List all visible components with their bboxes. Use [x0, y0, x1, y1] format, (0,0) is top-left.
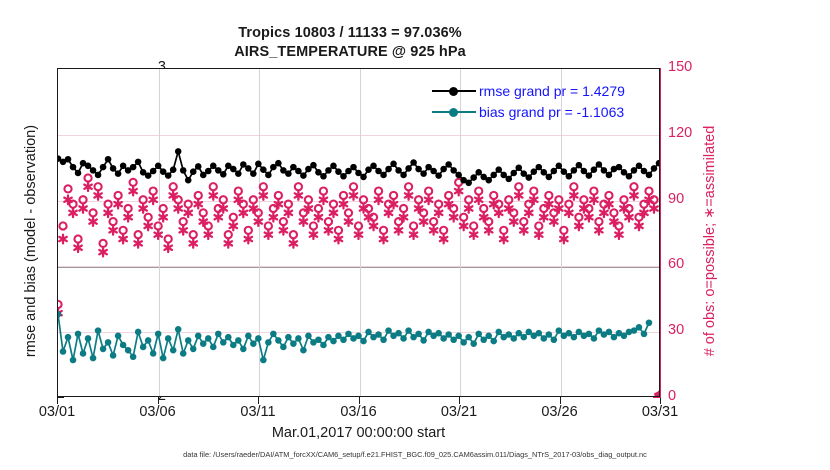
legend-marker-icon: [432, 84, 476, 98]
x-axis-tick-mark: [258, 397, 259, 404]
y-axis-right-tick-label: 0: [668, 388, 714, 404]
x-axis-tick-label: 03/31: [625, 404, 695, 420]
y-axis-right-tick-label: 30: [668, 322, 714, 338]
x-axis-tick-mark: [660, 397, 661, 404]
y-axis-left-label: rmse and bias (model - observation): [23, 76, 39, 406]
chart-title: Tropics 10803 / 11133 = 97.036% AIRS_TEM…: [0, 24, 700, 62]
x-axis-tick-mark: [57, 397, 58, 404]
x-axis-tick-label: 03/06: [123, 404, 193, 420]
plot-page: Tropics 10803 / 11133 = 97.036% AIRS_TEM…: [0, 0, 830, 470]
x-axis-tick-label: 03/26: [525, 404, 595, 420]
legend: rmse grand pr = 1.4279bias grand pr = -1…: [432, 80, 625, 122]
series-line-rmse: [58, 148, 659, 186]
y-axis-right-tick-label: 120: [668, 125, 714, 141]
legend-marker-icon: [432, 105, 476, 119]
x-axis-tick-mark: [158, 397, 159, 404]
y-axis-right-tick-label: 90: [668, 191, 714, 207]
legend-item[interactable]: bias grand pr = -1.1063: [432, 101, 625, 122]
x-axis-tick-mark: [459, 397, 460, 404]
y-axis-right-tick-label: 150: [668, 59, 714, 75]
x-axis-tick-mark: [359, 397, 360, 404]
series-line-bias: [58, 311, 652, 363]
y-axis-right-tick-label: 60: [668, 256, 714, 272]
x-axis-tick-label: 03/01: [22, 404, 92, 420]
x-axis-tick-label: 03/21: [424, 404, 494, 420]
legend-label: rmse grand pr = 1.4279: [479, 83, 625, 99]
x-axis-tick-mark: [560, 397, 561, 404]
legend-item[interactable]: rmse grand pr = 1.4279: [432, 80, 625, 101]
x-axis-tick-label: 03/16: [324, 404, 394, 420]
legend-label: bias grand pr = -1.1063: [479, 104, 624, 120]
x-axis-tick-label: 03/11: [223, 404, 293, 420]
chart-title-line1: Tropics 10803 / 11133 = 97.036%: [0, 24, 700, 43]
chart-title-line2: AIRS_TEMPERATURE @ 925 hPa: [0, 43, 700, 62]
data-file-footer: data file: /Users/raeder/DAI/ATM_forcXX/…: [0, 450, 830, 459]
x-axis-label: Mar.01,2017 00:00:00 start: [57, 425, 660, 441]
